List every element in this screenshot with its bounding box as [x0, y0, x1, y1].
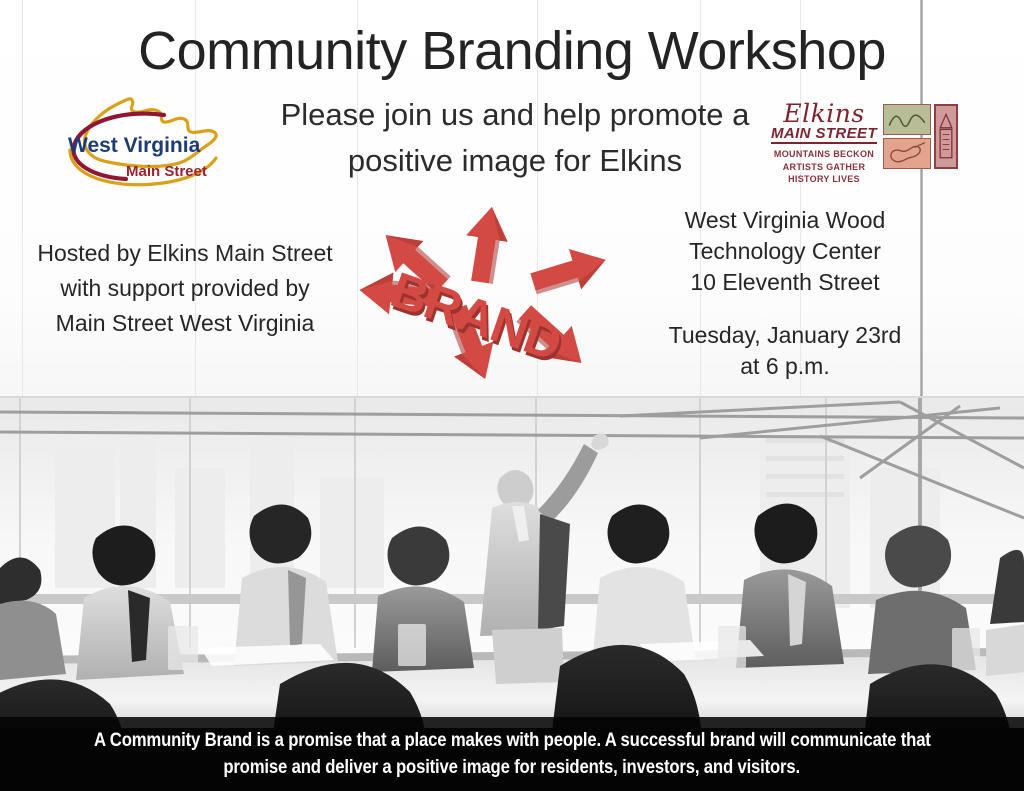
elkins-main-street-wordmark: MAIN STREET	[771, 126, 877, 144]
caption-band: A Community Brand is a promise that a pl…	[0, 717, 1024, 791]
host-line-3: Main Street West Virginia	[10, 306, 360, 341]
elkins-tagline: MOUNTAINS BECKON ARTISTS GATHER HISTORY …	[768, 148, 880, 186]
elkins-logo-text: Elkins MAIN STREET MOUNTAINS BECKON ARTI…	[768, 101, 880, 186]
page-title: Community Branding Workshop	[0, 20, 1024, 82]
caption-line-1: A Community Brand is a promise that a pl…	[94, 727, 931, 754]
elkins-logo-panels	[883, 101, 958, 169]
elkins-main-street-logo: Elkins MAIN STREET MOUNTAINS BECKON ARTI…	[768, 101, 960, 181]
wv-logo-name-text: West Virginia	[68, 134, 201, 157]
subtitle: Please join us and help promote a positi…	[230, 92, 800, 184]
violin-panel-icon	[883, 138, 931, 169]
venue-info-block: West Virginia Wood Technology Center 10 …	[630, 205, 940, 382]
brand-arrow-right	[527, 240, 612, 302]
host-line-2: with support provided by	[10, 271, 360, 306]
host-line-1: Hosted by Elkins Main Street	[10, 236, 360, 271]
flyer-poster: Community Branding Workshop Please join …	[0, 0, 1024, 791]
mountains-panel-icon	[883, 104, 931, 135]
caption-line-2: promise and deliver a positive image for…	[224, 754, 801, 781]
tower-panel-icon	[934, 104, 958, 169]
subtitle-line-2: positive image for Elkins	[230, 138, 800, 184]
brand-arrow-up	[459, 204, 512, 286]
venue-line-1: West Virginia Wood	[630, 205, 940, 236]
tagline-line-3: HISTORY LIVES	[768, 173, 880, 186]
event-time: at 6 p.m.	[630, 351, 940, 382]
elkins-panel-column	[883, 104, 931, 169]
elkins-script-wordmark: Elkins	[768, 102, 880, 125]
venue-line-2: Technology Center	[630, 236, 940, 267]
west-virginia-main-street-logo: West Virginia Main Street	[46, 84, 242, 192]
venue-line-3: 10 Eleventh Street	[630, 267, 940, 298]
host-info-block: Hosted by Elkins Main Street with suppor…	[10, 236, 360, 341]
wv-logo-program-text: Main Street	[126, 163, 207, 180]
event-date: Tuesday, January 23rd	[630, 320, 940, 351]
tagline-line-1: MOUNTAINS BECKON	[768, 148, 880, 161]
tagline-line-2: ARTISTS GATHER	[768, 161, 880, 174]
brand-arrows-graphic: BRAND BRAND	[330, 190, 630, 405]
subtitle-line-1: Please join us and help promote a	[230, 92, 800, 138]
